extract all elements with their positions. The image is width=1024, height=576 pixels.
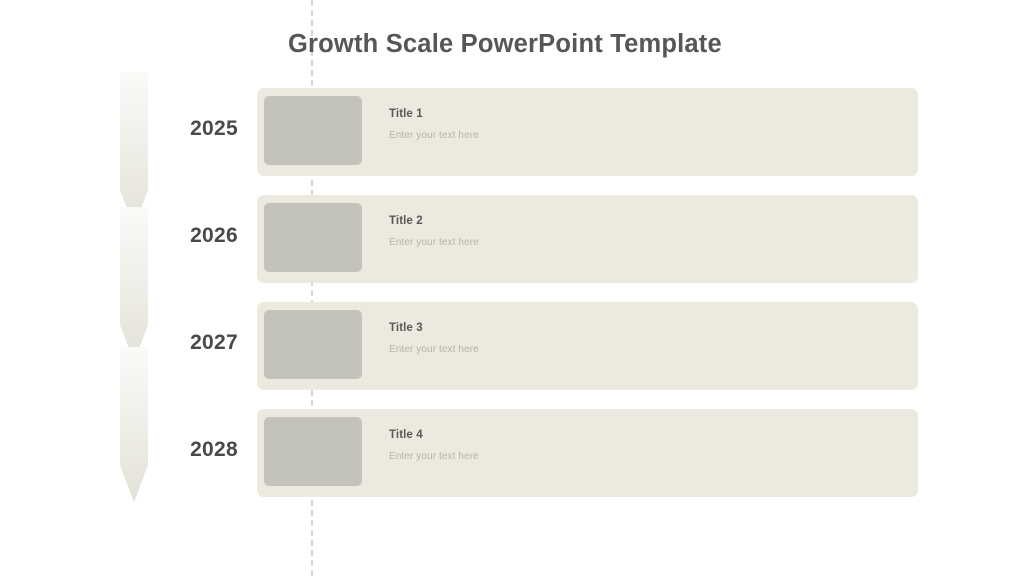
timeline-panel-text: Title 4 Enter your text here — [389, 428, 889, 463]
timeline-item-subtitle[interactable]: Enter your text here — [389, 129, 889, 142]
timeline-panel[interactable]: Title 1 Enter your text here — [257, 88, 918, 176]
timeline-year-label: 2028 — [150, 438, 238, 462]
timeline-panel-text: Title 1 Enter your text here — [389, 107, 889, 142]
timeline-item-subtitle[interactable]: Enter your text here — [389, 450, 889, 463]
timeline-panel[interactable]: Title 2 Enter your text here — [257, 195, 918, 283]
timeline-panel-text: Title 3 Enter your text here — [389, 321, 889, 356]
timeline-list: 2025 Title 1 Enter your text here 2026 T… — [0, 0, 1024, 576]
timeline-item-title: Title 2 — [389, 214, 889, 230]
timeline-item-title: Title 3 — [389, 321, 889, 337]
timeline-row[interactable]: 2026 Title 2 Enter your text here — [0, 195, 1024, 283]
timeline-year-label: 2027 — [150, 331, 238, 355]
timeline-item-title: Title 4 — [389, 428, 889, 444]
image-placeholder[interactable] — [264, 96, 362, 165]
timeline-year-label: 2026 — [150, 224, 238, 248]
timeline-year-label: 2025 — [150, 117, 238, 141]
image-placeholder[interactable] — [264, 417, 362, 486]
timeline-item-title: Title 1 — [389, 107, 889, 123]
image-placeholder[interactable] — [264, 310, 362, 379]
timeline-row[interactable]: 2027 Title 3 Enter your text here — [0, 302, 1024, 390]
image-placeholder[interactable] — [264, 203, 362, 272]
timeline-panel[interactable]: Title 4 Enter your text here — [257, 409, 918, 497]
timeline-panel[interactable]: Title 3 Enter your text here — [257, 302, 918, 390]
timeline-item-subtitle[interactable]: Enter your text here — [389, 236, 889, 249]
timeline-item-subtitle[interactable]: Enter your text here — [389, 343, 889, 356]
timeline-panel-text: Title 2 Enter your text here — [389, 214, 889, 249]
timeline-row[interactable]: 2025 Title 1 Enter your text here — [0, 88, 1024, 176]
timeline-row[interactable]: 2028 Title 4 Enter your text here — [0, 409, 1024, 497]
